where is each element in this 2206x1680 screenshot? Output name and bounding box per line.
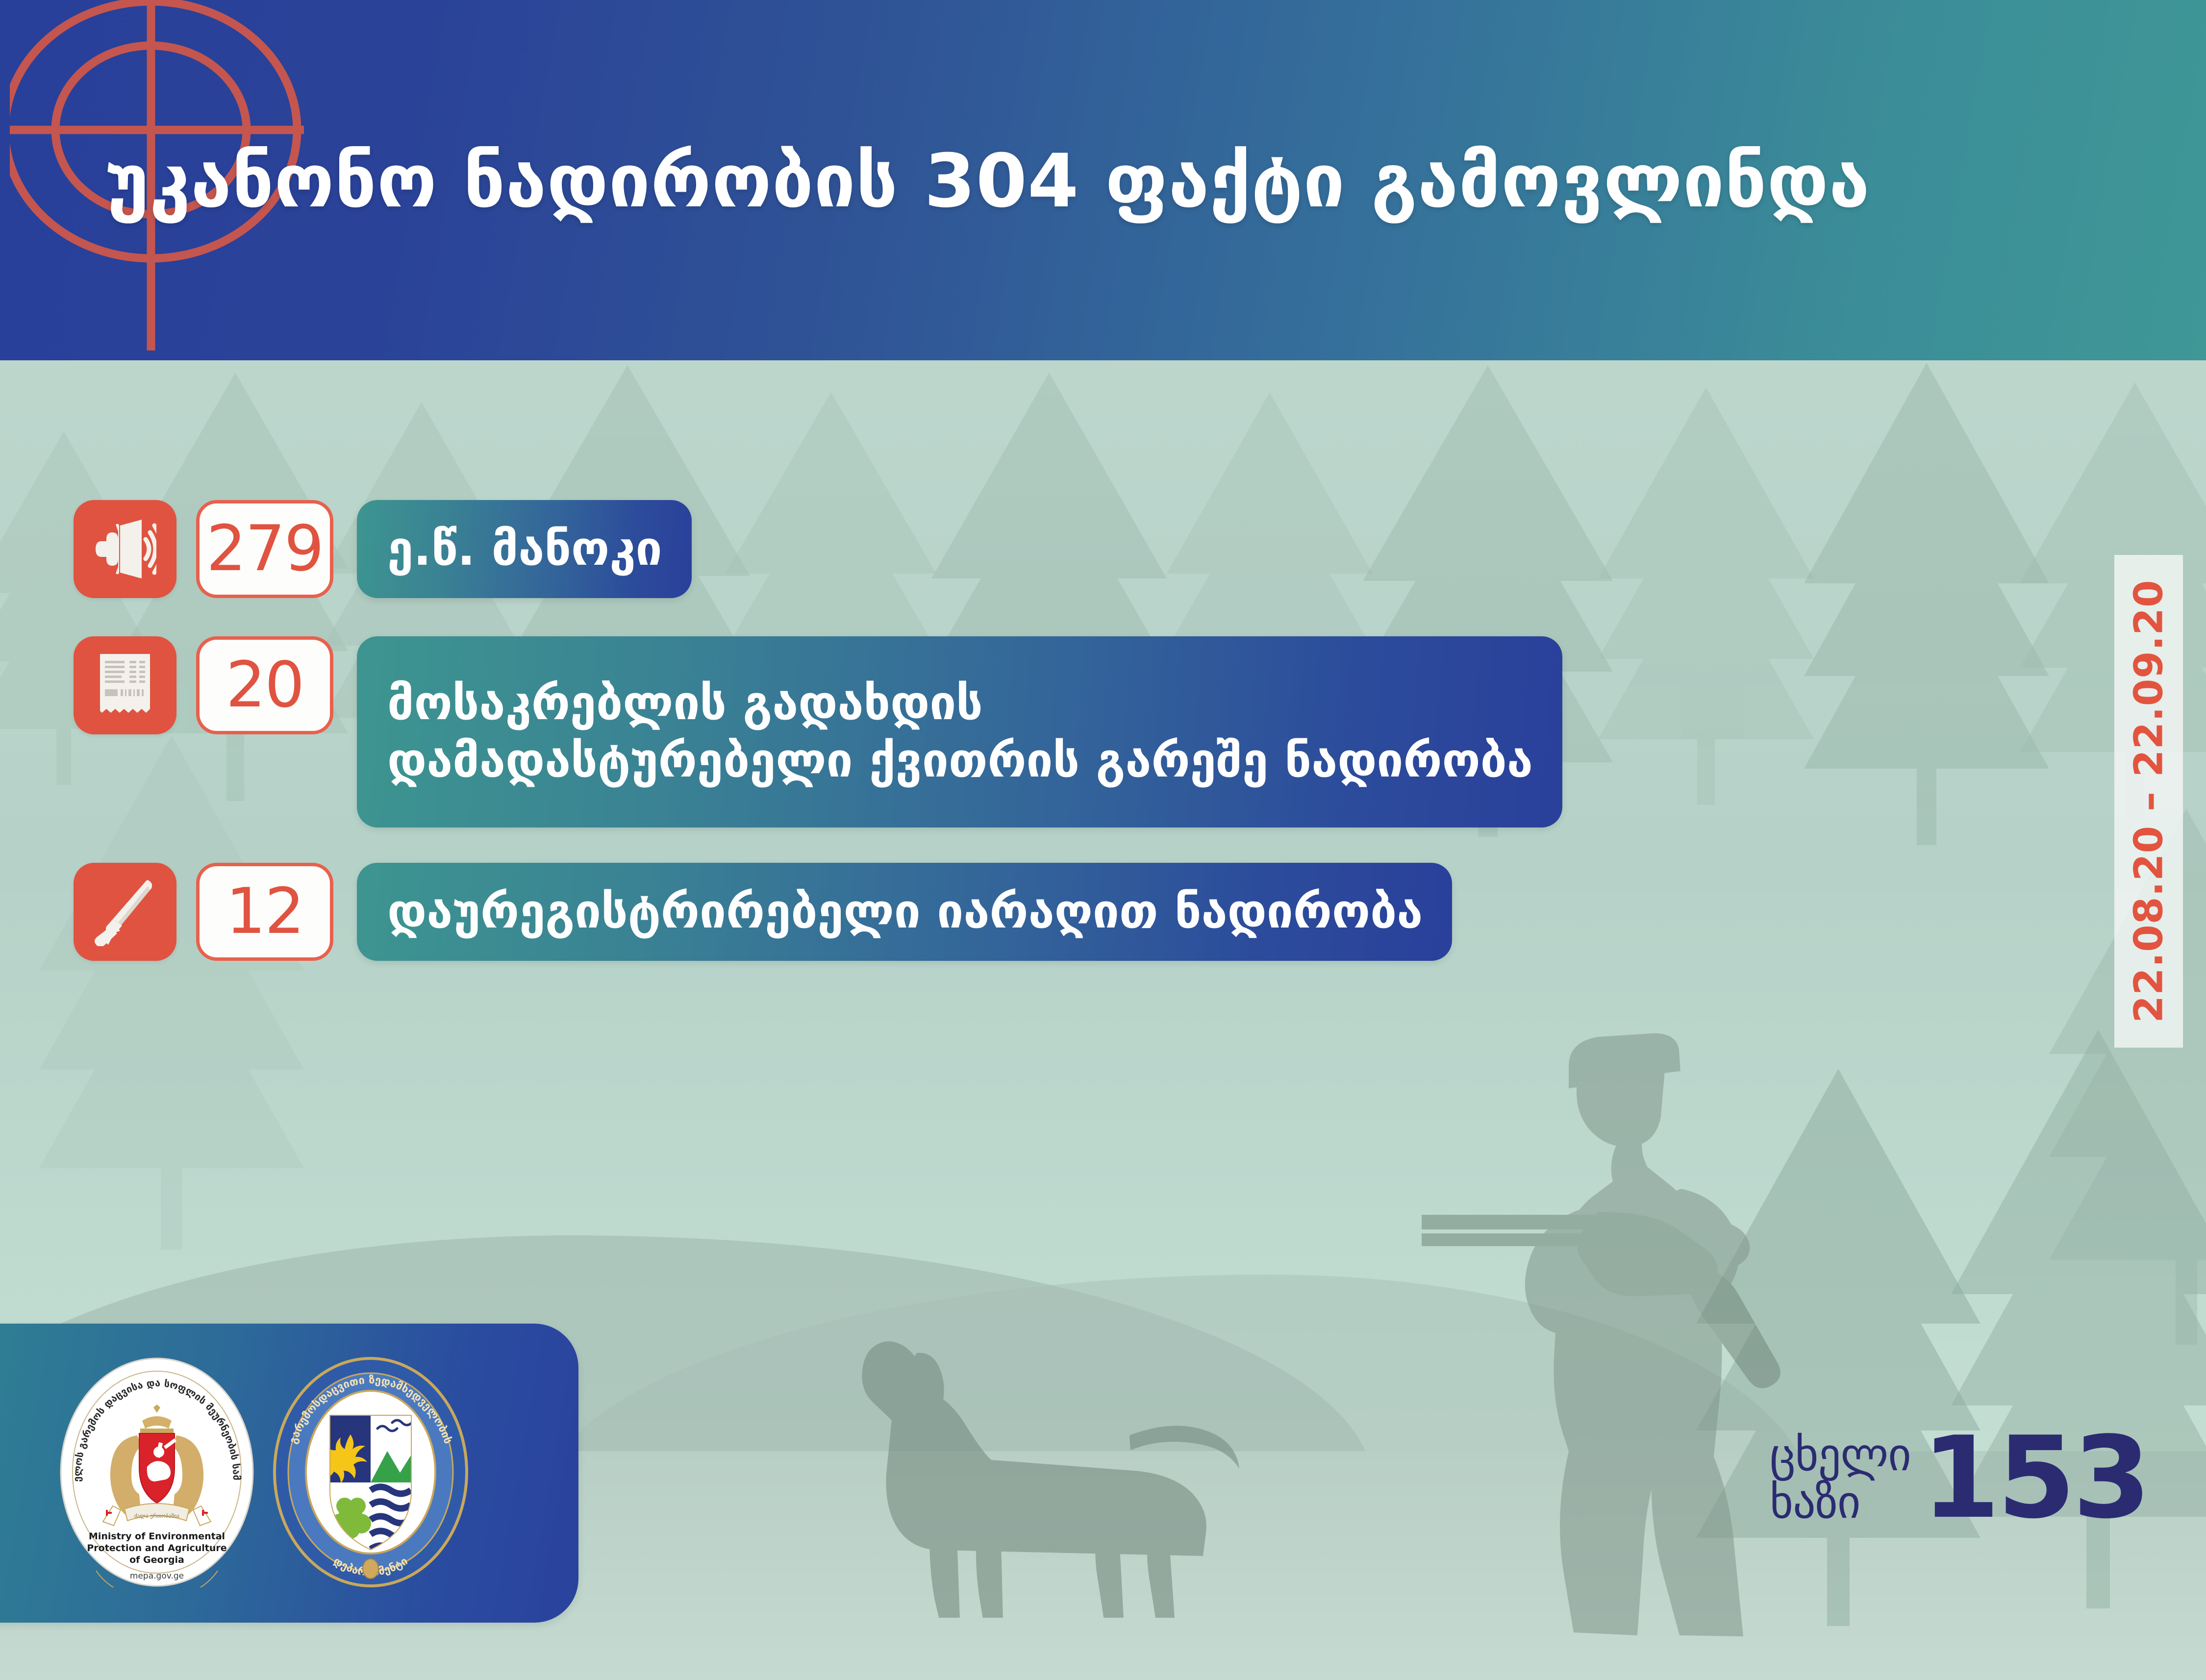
infographic-poster: უკანონო ნადირობის 304 ფაქტი გამოვლინდა bbox=[0, 0, 2206, 1680]
hotline-number: 153 bbox=[1922, 1429, 2148, 1528]
stat-label: დაურეგისტრირებელი იარაღით ნადირობა bbox=[357, 863, 1452, 961]
megaphone-icon bbox=[74, 500, 176, 598]
stat-label: მოსაკრებლის გადახდის დამადასტურებელი ქვი… bbox=[357, 636, 1562, 827]
stat-label-line: დაურეგისტრირებელი იარაღით ნადირობა bbox=[387, 883, 1423, 940]
stat-label-line: ე.წ. მანოკი bbox=[387, 520, 662, 577]
hotline-word-line1: ცხელი bbox=[1770, 1431, 1911, 1479]
stat-count: 20 bbox=[196, 636, 333, 734]
environmental-supervision-seal: გარემოსდაცვითი ზედამხედველობის დეპარტამე… bbox=[273, 1357, 469, 1589]
hotline-words: ცხელი ხაზი bbox=[1770, 1431, 1911, 1527]
ministry-seal: საქართველოს გარემოს დაცვისა და სოფლის მე… bbox=[59, 1357, 255, 1589]
stat-count: 12 bbox=[196, 863, 333, 961]
page-title: უკანონო ნადირობის 304 ფაქტი გამოვლინდა bbox=[105, 125, 2017, 238]
stat-label-line: მოსაკრებლის გადახდის bbox=[387, 675, 1533, 732]
hunter-silhouette bbox=[1422, 1020, 1863, 1637]
stat-count: 279 bbox=[196, 500, 333, 598]
date-range-text: 22.08.20 – 22.09.20 bbox=[2126, 579, 2172, 1023]
hunting-dog-silhouette bbox=[858, 1294, 1260, 1618]
stat-row: 20 მოსაკრებლის გადახდის დამადასტურებელი … bbox=[0, 636, 2206, 827]
stats-list: 279 ე.წ. მანოკი bbox=[0, 500, 2206, 995]
svg-text:Protection and Agriculture: Protection and Agriculture bbox=[87, 1543, 226, 1554]
receipt-icon bbox=[74, 636, 176, 734]
shotgun-icon bbox=[74, 863, 176, 961]
stat-label: ე.წ. მანოკი bbox=[357, 500, 692, 598]
stat-row: 12 დაურეგისტრირებელი იარაღით ნადირობა bbox=[0, 863, 2206, 961]
footer-logo-panel: საქართველოს გარემოს დაცვისა და სოფლის მე… bbox=[0, 1324, 578, 1623]
svg-text:ძალა ერთობაშია: ძალა ერთობაშია bbox=[134, 1513, 180, 1519]
header-banner: უკანონო ნადირობის 304 ფაქტი გამოვლინდა bbox=[0, 0, 2206, 360]
svg-text:Ministry of Environmental: Ministry of Environmental bbox=[89, 1531, 225, 1542]
hotline-badge: ცხელი ხაზი 153 bbox=[1770, 1429, 2148, 1528]
stat-row: 279 ე.წ. მანოკი bbox=[0, 500, 2206, 598]
date-range-badge: 22.08.20 – 22.09.20 bbox=[2114, 555, 2183, 1048]
stat-label-line: დამადასტურებელი ქვითრის გარეშე ნადირობა bbox=[387, 732, 1533, 789]
hotline-word-line2: ხაზი bbox=[1770, 1479, 1911, 1527]
svg-text:of Georgia: of Georgia bbox=[129, 1555, 184, 1565]
svg-text:mepa.gov.ge: mepa.gov.ge bbox=[130, 1571, 184, 1581]
